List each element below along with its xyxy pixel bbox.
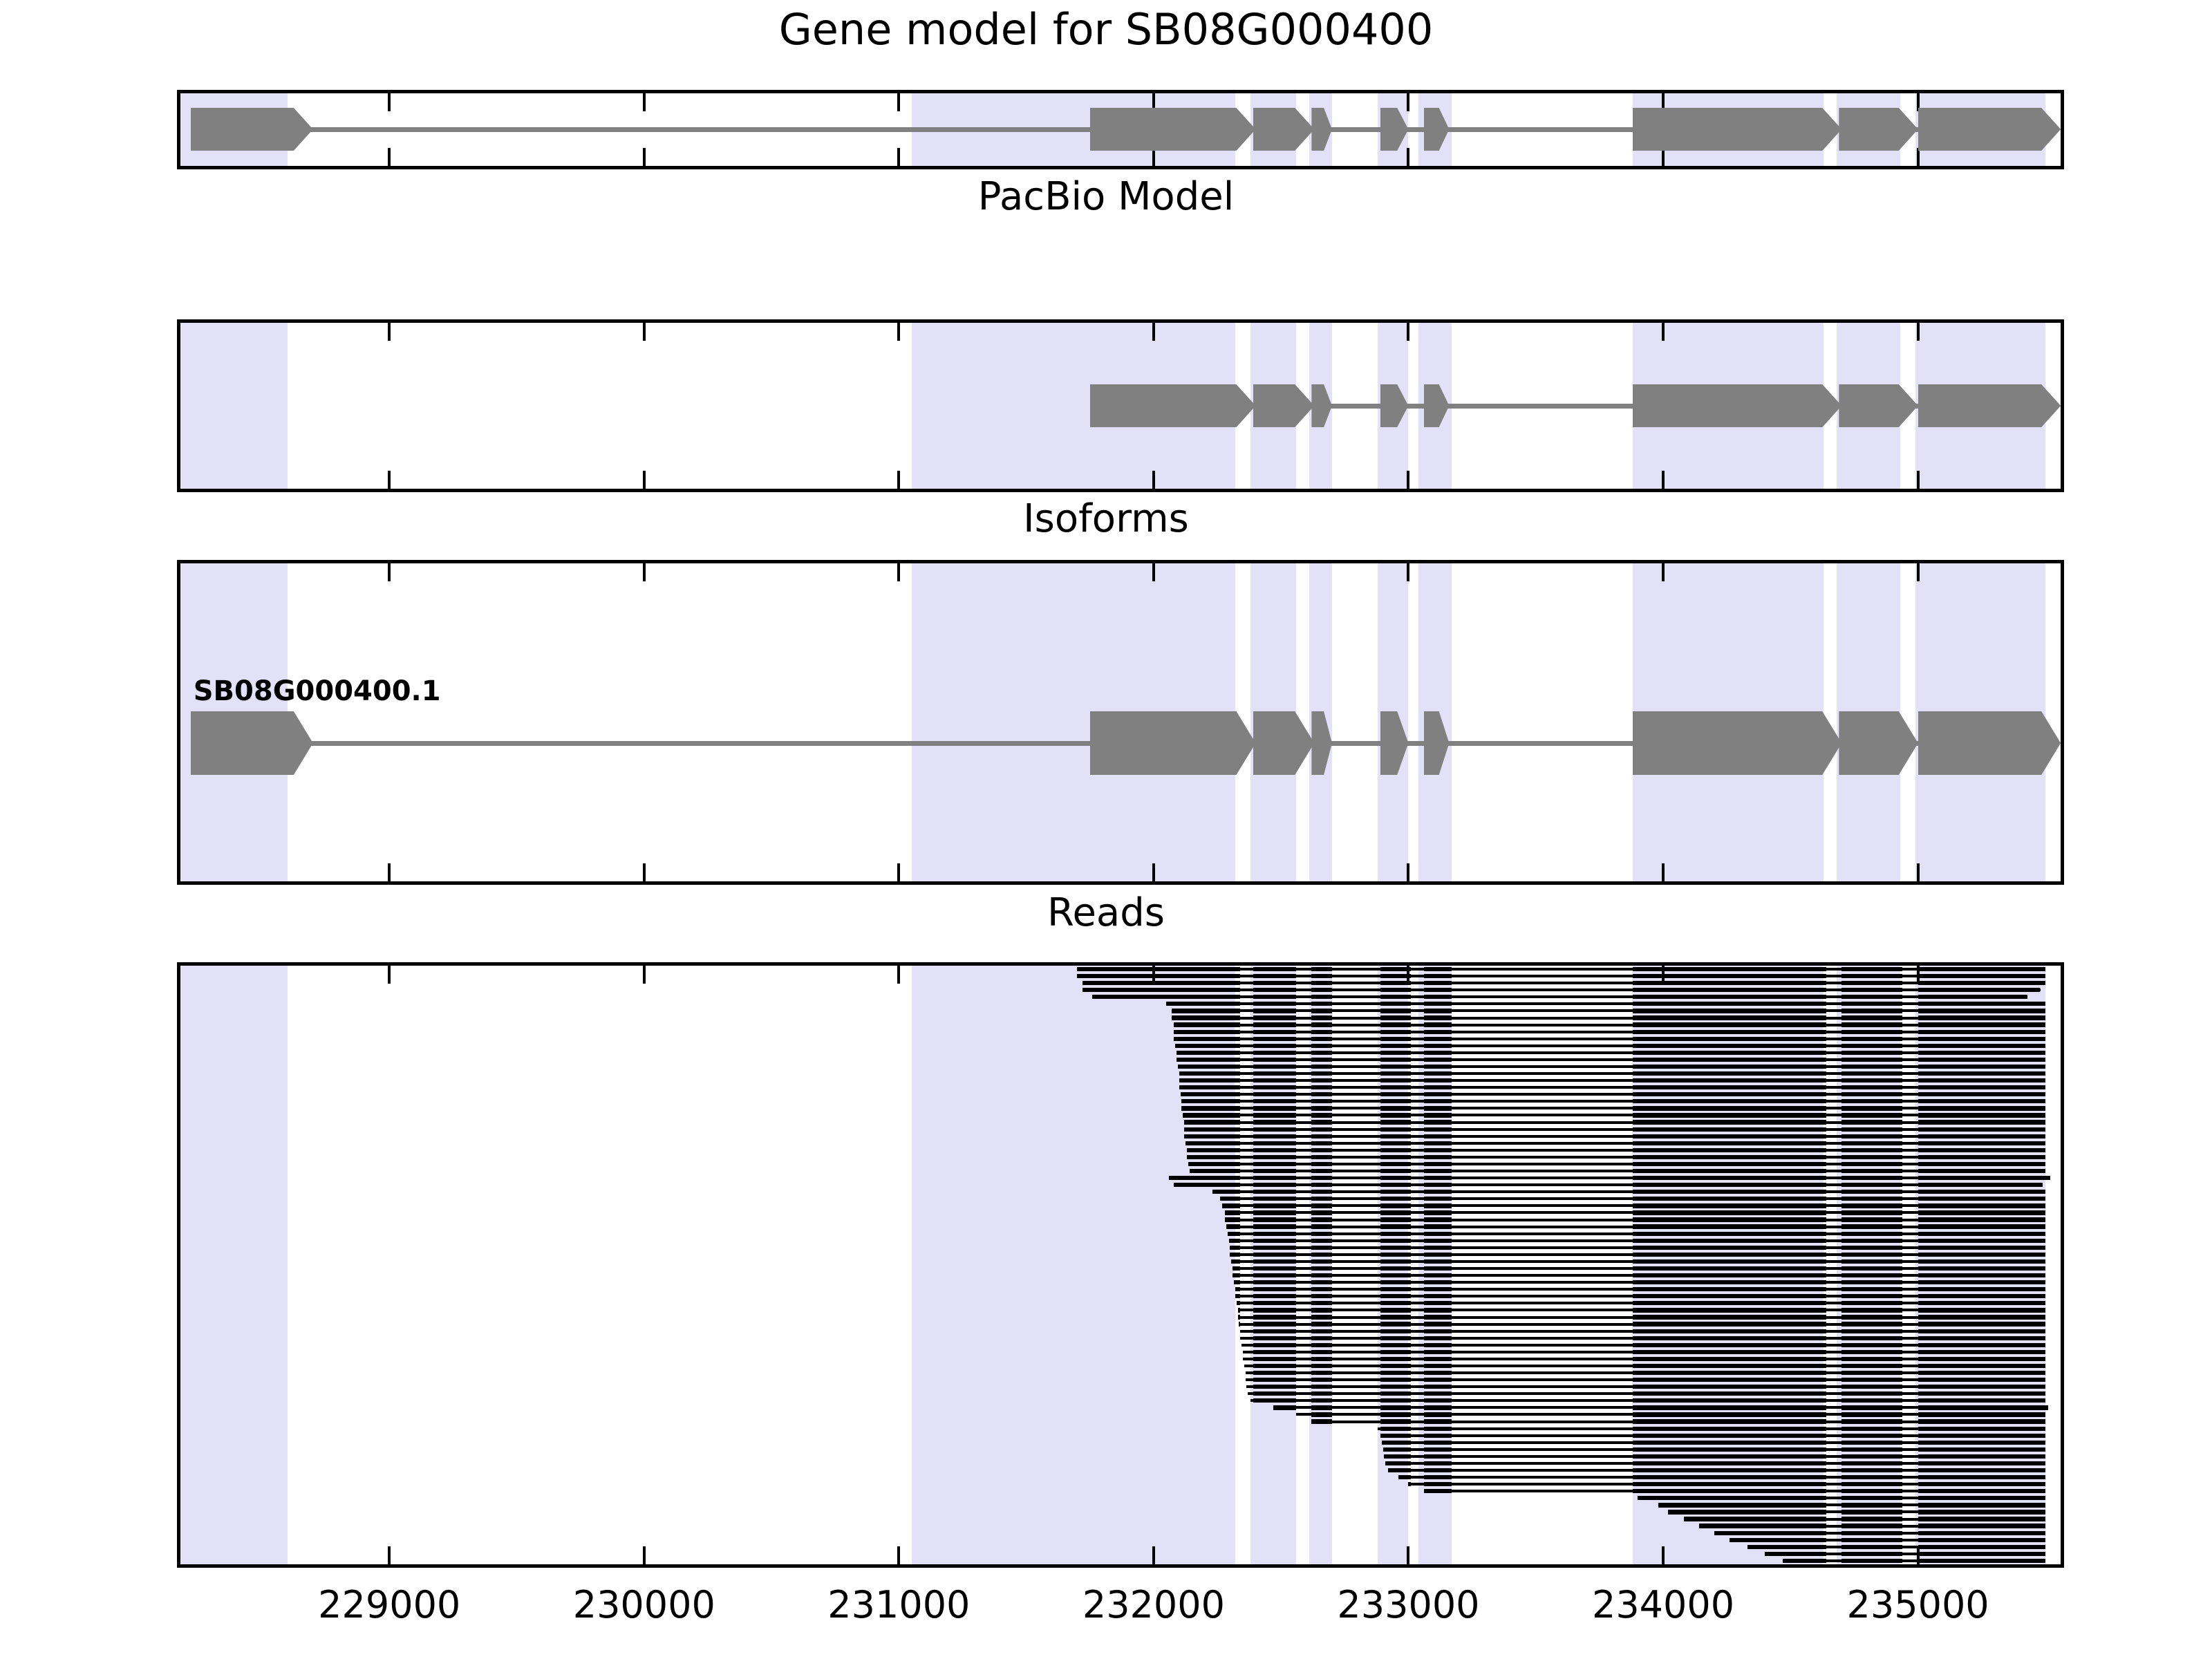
exon-block: [1918, 711, 2061, 775]
figure-root: Gene model for SB08G000400 PacBio Model …: [0, 0, 2212, 1659]
read-exon-block: [1380, 1329, 1411, 1333]
isoform-label: SB08G000400.1: [194, 675, 441, 707]
read-exon-block: [1253, 1391, 1297, 1396]
read-exon-block: [1918, 1051, 2045, 1055]
read-exon-block: [1424, 1099, 1452, 1103]
read-row: [1082, 988, 2041, 992]
read-exon-block: [1918, 1197, 2045, 1201]
read-row: [1424, 1489, 2045, 1493]
read-exon-block: [1380, 1364, 1411, 1368]
read-exon-block: [1918, 1315, 2045, 1319]
read-exon-block: [1918, 1517, 2045, 1521]
read-row: [1232, 1266, 2045, 1271]
read-row: [1244, 1364, 2045, 1368]
read-row: [1246, 1385, 2045, 1389]
read-exon-block: [1633, 1022, 1826, 1027]
read-exon-block: [1783, 1559, 1826, 1563]
read-exon-block: [1841, 1169, 1902, 1173]
read-exon-block: [1253, 1294, 1297, 1298]
read-exon-block: [1918, 1343, 2045, 1347]
read-backbone: [1175, 1044, 2045, 1047]
read-row: [1082, 981, 2045, 985]
read-exon-block: [1424, 974, 1452, 978]
read-row: [1220, 1197, 2045, 1201]
read-backbone: [1172, 1017, 2045, 1020]
read-exon-block: [1633, 1044, 1826, 1048]
read-exon-block: [1841, 1246, 1902, 1250]
read-exon-block: [1633, 1273, 1826, 1277]
read-exon-block: [1633, 1412, 1826, 1416]
gene-model-plot-area: [180, 93, 2061, 166]
read-exon-block: [1380, 1176, 1411, 1180]
read-exon-block: [1424, 1350, 1452, 1354]
read-row: [1398, 1475, 2045, 1479]
read-exon-block: [1380, 1169, 1411, 1173]
read-exon-block: [1918, 1322, 2045, 1326]
read-exon-block: [1918, 1434, 2045, 1438]
read-row: [1383, 1447, 2045, 1452]
read-exon-block: [1841, 1176, 1902, 1180]
read-exon-block: [1380, 1315, 1411, 1319]
read-exon-block: [1424, 1447, 1452, 1452]
read-exon-block: [1633, 988, 1826, 992]
read-exon-block: [1918, 1510, 2045, 1514]
read-row: [1408, 1482, 2045, 1486]
read-row: [1246, 1378, 2045, 1382]
read-exon-block: [1841, 1301, 1902, 1305]
read-exon-block: [1253, 1398, 1297, 1403]
read-exon-block: [1633, 1210, 1826, 1215]
exon-block: [1633, 711, 1841, 775]
read-row: [1230, 1246, 2045, 1250]
read-exon-block: [1253, 1315, 1297, 1319]
read-exon-block: [1424, 1364, 1452, 1368]
read-exon-block: [1424, 1482, 1452, 1486]
read-exon-block: [1253, 1371, 1297, 1375]
read-exon-block: [1668, 1510, 1826, 1514]
read-exon-block: [1841, 1253, 1902, 1257]
read-row: [1380, 1434, 2045, 1438]
read-exon-block: [1918, 967, 2045, 971]
read-exon-block: [1841, 1210, 1902, 1215]
pacbio-model-title: PacBio Model: [0, 174, 2212, 219]
read-row: [1166, 1002, 2045, 1006]
read-exon-block: [1633, 1134, 1826, 1138]
read-exon-block: [1633, 1253, 1826, 1257]
read-exon-block: [1253, 1148, 1297, 1152]
read-exon-block: [1633, 1322, 1826, 1326]
read-backbone: [1177, 1051, 2045, 1054]
read-row: [1174, 1037, 2045, 1041]
read-exon-block: [1253, 1217, 1297, 1221]
read-exon-block: [1311, 1127, 1331, 1132]
read-exon-block: [1380, 1190, 1411, 1194]
read-exon-block: [1380, 1015, 1411, 1020]
read-exon-block: [1841, 1559, 1902, 1563]
read-exon-block: [1424, 1217, 1452, 1221]
read-exon-block: [1424, 1037, 1452, 1041]
x-tick-mark: [388, 471, 391, 489]
read-exon-block: [1841, 1503, 1902, 1507]
highlight-region: [180, 966, 288, 1564]
read-row: [1184, 1134, 2045, 1138]
read-exon-block: [1380, 1224, 1411, 1228]
read-exon-block: [1918, 1253, 2045, 1257]
read-exon-block: [1633, 1148, 1826, 1152]
read-exon-block: [1253, 1239, 1297, 1243]
read-exon-block: [1918, 1092, 2045, 1096]
read-exon-block: [1253, 1106, 1297, 1110]
read-exon-block: [1311, 1002, 1331, 1006]
read-exon-block: [1424, 1058, 1452, 1062]
read-exon-block: [1253, 1259, 1297, 1264]
read-exon-block: [1235, 1287, 1240, 1291]
read-exon-block: [1311, 988, 1331, 992]
x-tick-mark: [1407, 563, 1409, 581]
read-exon-block: [1424, 1259, 1452, 1264]
read-exon-block: [1220, 1197, 1240, 1201]
read-exon-block: [1253, 1015, 1297, 1020]
read-exon-block: [1424, 1385, 1452, 1389]
read-exon-block: [1253, 1065, 1297, 1069]
read-exon-block: [1253, 1224, 1297, 1228]
read-exon-block: [1841, 1099, 1902, 1103]
read-exon-block: [1188, 1162, 1241, 1166]
read-exon-block: [1841, 1106, 1902, 1110]
read-exon-block: [1841, 1127, 1902, 1132]
read-exon-block: [1311, 1217, 1331, 1221]
read-exon-block: [1238, 1315, 1241, 1319]
read-exon-block: [1633, 1127, 1826, 1132]
read-exon-block: [1239, 1322, 1240, 1326]
read-exon-block: [1383, 1447, 1412, 1452]
read-exon-block: [1424, 1461, 1452, 1465]
read-exon-block: [1253, 1287, 1297, 1291]
isoforms-panel: SB08G000400.1: [177, 560, 2064, 885]
read-exon-block: [1918, 1301, 2045, 1305]
read-exon-block: [1918, 1002, 2045, 1006]
read-row: [1222, 1203, 2045, 1208]
pacbio-model-plot-area: [180, 323, 2061, 489]
read-backbone: [1179, 1072, 2045, 1075]
x-tick-mark: [643, 323, 646, 341]
read-exon-block: [1633, 1398, 1826, 1403]
read-exon-block: [1918, 1176, 2045, 1180]
read-row: [1230, 1253, 2045, 1257]
read-exon-block: [1311, 1009, 1331, 1013]
read-exon-block: [1841, 1273, 1902, 1277]
read-exon-block: [1424, 1030, 1452, 1034]
read-exon-block: [1633, 1051, 1826, 1055]
x-tick-mark: [897, 863, 900, 881]
read-exon-block: [1424, 967, 1452, 971]
read-exon-block: [1918, 1246, 2045, 1250]
read-exon-block: [1311, 1357, 1331, 1361]
read-exon-block: [1311, 1183, 1331, 1187]
read-exon-block: [1311, 1405, 1331, 1409]
read-exon-block: [1841, 995, 1902, 999]
read-exon-block: [1179, 1071, 1240, 1076]
read-exon-block: [1380, 1259, 1411, 1264]
x-tick-mark: [388, 93, 391, 111]
read-exon-block: [1424, 1169, 1452, 1173]
read-exon-block: [1311, 974, 1331, 978]
x-tick-mark: [897, 471, 900, 489]
read-exon-block: [1633, 1141, 1826, 1145]
read-exon-block: [1380, 1037, 1411, 1041]
read-exon-block: [1633, 1085, 1826, 1089]
read-row: [1699, 1524, 2045, 1528]
read-exon-block: [1380, 1022, 1411, 1027]
read-exon-block: [1380, 1350, 1411, 1354]
read-row: [1684, 1517, 2045, 1521]
read-exon-block: [1841, 1398, 1902, 1403]
read-exon-block: [1633, 1378, 1826, 1382]
read-row: [1668, 1510, 2045, 1514]
read-exon-block: [1082, 981, 1241, 985]
x-tick-mark: [897, 563, 900, 581]
read-row: [1181, 1106, 2045, 1110]
exon-block: [1633, 384, 1841, 427]
read-backbone: [1166, 1002, 2045, 1005]
read-exon-block: [1380, 1419, 1411, 1423]
read-exon-block: [1424, 1210, 1452, 1215]
read-exon-block: [1253, 1364, 1297, 1368]
read-exon-block: [1311, 1210, 1331, 1215]
read-exon-block: [1633, 1461, 1826, 1465]
read-exon-block: [1918, 1127, 2045, 1132]
read-exon-block: [1424, 1441, 1452, 1445]
read-row: [1311, 1419, 2045, 1423]
x-tick-label: 230000: [573, 1583, 715, 1627]
read-exon-block: [1633, 1120, 1826, 1124]
read-exon-block: [1184, 1120, 1240, 1124]
read-exon-block: [1841, 1002, 1902, 1006]
read-exon-block: [1253, 1113, 1297, 1117]
read-row: [1212, 1190, 2045, 1194]
read-row: [1747, 1545, 2045, 1549]
read-exon-block: [1633, 1454, 1826, 1459]
read-exon-block: [1398, 1475, 1411, 1479]
read-exon-block: [1918, 1503, 2045, 1507]
read-exon-block: [1380, 1273, 1411, 1277]
read-exon-block: [1253, 1037, 1297, 1041]
read-exon-block: [1273, 1405, 1296, 1409]
read-exon-block: [1841, 1524, 1902, 1528]
x-tick-mark: [1407, 93, 1409, 111]
highlight-region: [1309, 966, 1332, 1564]
read-exon-block: [1380, 995, 1411, 999]
read-exon-block: [1311, 1308, 1331, 1312]
read-exon-block: [1633, 1419, 1826, 1423]
exon-block: [1090, 711, 1256, 775]
read-exon-block: [1092, 995, 1240, 999]
read-row: [1243, 1357, 2045, 1361]
read-exon-block: [1841, 1051, 1902, 1055]
highlight-region: [1250, 966, 1296, 1564]
read-row: [1229, 1239, 2045, 1243]
read-exon-block: [1388, 1468, 1411, 1472]
read-exon-block: [1311, 1044, 1331, 1048]
read-row: [1273, 1405, 2047, 1409]
x-tick-mark: [1407, 148, 1409, 166]
exon-block: [1253, 384, 1315, 427]
read-exon-block: [1424, 1405, 1452, 1409]
read-exon-block: [1253, 1162, 1297, 1166]
read-exon-block: [1841, 1378, 1902, 1382]
read-exon-block: [1172, 1015, 1241, 1020]
read-exon-block: [1424, 1015, 1452, 1020]
read-exon-block: [1424, 988, 1452, 992]
read-exon-block: [1253, 1322, 1297, 1326]
x-tick-mark: [1407, 471, 1409, 489]
read-exon-block: [1633, 1447, 1826, 1452]
read-exon-block: [1918, 1280, 2045, 1284]
read-exon-block: [1185, 1141, 1240, 1145]
read-row: [1184, 1127, 2045, 1132]
read-exon-block: [1253, 995, 1297, 999]
read-exon-block: [1424, 1078, 1452, 1082]
read-exon-block: [1730, 1538, 1826, 1542]
read-exon-block: [1253, 1044, 1297, 1048]
isoforms-title: Isoforms: [0, 496, 2212, 541]
read-exon-block: [1633, 1329, 1826, 1333]
read-exon-block: [1918, 1398, 2045, 1403]
read-exon-block: [1699, 1524, 1826, 1528]
read-exon-block: [1841, 1308, 1902, 1312]
read-row: [1234, 1280, 2045, 1284]
isoforms-plot-area: SB08G000400.1: [180, 563, 2061, 881]
read-exon-block: [1311, 1190, 1331, 1194]
read-exon-block: [1380, 988, 1411, 992]
read-row: [1190, 1169, 2045, 1173]
x-tick-mark: [388, 966, 391, 984]
read-exon-block: [1633, 974, 1826, 978]
read-exon-block: [1253, 1127, 1297, 1132]
read-exon-block: [1311, 1246, 1331, 1250]
read-row: [1178, 1065, 2045, 1069]
x-tick-mark: [1917, 563, 1920, 581]
read-exon-block: [1424, 1322, 1452, 1326]
read-exon-block: [1380, 1210, 1411, 1215]
read-exon-block: [1253, 1203, 1297, 1208]
read-exon-block: [1841, 1364, 1902, 1368]
read-exon-block: [1633, 1246, 1826, 1250]
read-exon-block: [1174, 1022, 1240, 1027]
read-exon-block: [1231, 1259, 1240, 1264]
read-exon-block: [1841, 1217, 1902, 1221]
read-exon-block: [1253, 1058, 1297, 1062]
read-exon-block: [1380, 1246, 1411, 1250]
read-exon-block: [1424, 1127, 1452, 1132]
read-exon-block: [1311, 1099, 1331, 1103]
x-tick-mark: [388, 1546, 391, 1564]
read-row: [1185, 1141, 2045, 1145]
read-row: [1172, 1009, 2045, 1013]
read-exon-block: [1841, 1489, 1902, 1493]
read-row: [1187, 1155, 2045, 1159]
read-exon-block: [1253, 1253, 1297, 1257]
read-exon-block: [1187, 1148, 1240, 1152]
read-exon-block: [1235, 1294, 1240, 1298]
read-exon-block: [1253, 967, 1297, 971]
read-exon-block: [1918, 1427, 2045, 1431]
read-exon-block: [1424, 1162, 1452, 1166]
read-exon-block: [1918, 1065, 2045, 1069]
read-exon-block: [1253, 1357, 1297, 1361]
x-tick-mark: [1152, 563, 1155, 581]
read-exon-block: [1684, 1517, 1826, 1521]
pacbio-model-panel: [177, 319, 2064, 492]
x-tick-mark: [1152, 471, 1155, 489]
read-exon-block: [1633, 1232, 1826, 1236]
read-row: [1714, 1531, 2045, 1535]
read-exon-block: [1311, 1398, 1331, 1403]
read-backbone: [1174, 1038, 2045, 1040]
read-exon-block: [1633, 1058, 1826, 1062]
x-tick-mark: [1407, 1546, 1409, 1564]
read-exon-block: [1380, 1197, 1411, 1201]
read-exon-block: [1172, 1009, 1241, 1013]
read-exon-block: [1841, 967, 1902, 971]
read-row: [1658, 1503, 2045, 1507]
read-exon-block: [1633, 1217, 1826, 1221]
read-exon-block: [1234, 1280, 1240, 1284]
read-exon-block: [1311, 1385, 1331, 1389]
read-exon-block: [1633, 1071, 1826, 1076]
read-row: [1175, 1044, 2045, 1048]
read-exon-block: [1918, 1266, 2045, 1271]
read-row: [1188, 1162, 2045, 1166]
read-exon-block: [1380, 1280, 1411, 1284]
x-tick-mark: [1152, 863, 1155, 881]
read-exon-block: [1424, 1141, 1452, 1145]
read-row: [1765, 1552, 2045, 1556]
x-tick-mark: [1152, 323, 1155, 341]
read-exon-block: [1253, 1051, 1297, 1055]
read-backbone: [1174, 1024, 2045, 1027]
read-exon-block: [1222, 1203, 1240, 1208]
x-tick-mark: [1662, 323, 1665, 341]
read-exon-block: [1311, 1280, 1331, 1284]
read-exon-block: [1918, 1329, 2045, 1333]
read-exon-block: [1380, 1391, 1411, 1396]
read-exon-block: [1714, 1531, 1826, 1535]
read-exon-block: [1380, 1120, 1411, 1124]
read-exon-block: [1380, 1203, 1411, 1208]
read-exon-block: [1424, 1280, 1452, 1284]
read-exon-block: [1311, 1120, 1331, 1124]
read-exon-block: [1918, 1015, 2045, 1020]
x-tick-mark: [643, 93, 646, 111]
read-exon-block: [1253, 1134, 1297, 1138]
read-exon-block: [1918, 1461, 2045, 1465]
x-tick-mark: [388, 563, 391, 581]
read-exon-block: [1918, 1482, 2045, 1486]
read-exon-block: [1253, 1099, 1297, 1103]
read-row: [1235, 1294, 2045, 1298]
read-exon-block: [1184, 1127, 1240, 1132]
read-exon-block: [1918, 1468, 2045, 1472]
read-exon-block: [1311, 1092, 1331, 1096]
read-exon-block: [1311, 1141, 1331, 1145]
read-exon-block: [1633, 1030, 1826, 1034]
read-exon-block: [1253, 1336, 1297, 1340]
read-exon-block: [1380, 1071, 1411, 1076]
read-exon-block: [1380, 1065, 1411, 1069]
read-exon-block: [1633, 1009, 1826, 1013]
read-exon-block: [1918, 1454, 2045, 1459]
